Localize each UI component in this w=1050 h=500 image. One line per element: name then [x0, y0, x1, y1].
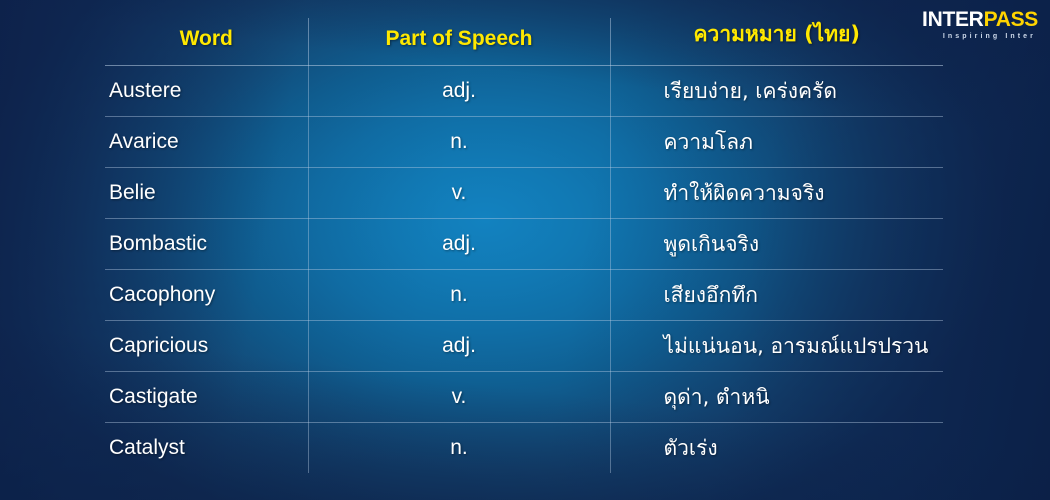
- header-row: Word Part of Speech ความหมาย (ไทย): [105, 18, 943, 66]
- cell-thai-meaning: ดุด่า, ตำหนิ: [610, 372, 943, 423]
- table-row: Belie v. ทำให้ผิดความจริง: [105, 168, 943, 219]
- cell-word: Avarice: [105, 117, 308, 168]
- cell-word: Capricious: [105, 321, 308, 372]
- table-row: Bombastic adj. พูดเกินจริง: [105, 219, 943, 270]
- cell-thai-meaning: ตัวเร่ง: [610, 423, 943, 474]
- cell-thai-meaning: พูดเกินจริง: [610, 219, 943, 270]
- column-header-word: Word: [105, 18, 308, 66]
- cell-part-of-speech: v.: [308, 168, 610, 219]
- cell-part-of-speech: adj.: [308, 321, 610, 372]
- cell-thai-meaning: เรียบง่าย, เคร่งครัด: [610, 66, 943, 117]
- column-header-part-of-speech: Part of Speech: [308, 18, 610, 66]
- slide-canvas: INTERPASS Inspiring Inter Word Part of S…: [0, 0, 1050, 500]
- column-header-thai-meaning: ความหมาย (ไทย): [610, 18, 943, 66]
- cell-word: Cacophony: [105, 270, 308, 321]
- cell-part-of-speech: adj.: [308, 219, 610, 270]
- cell-part-of-speech: n.: [308, 117, 610, 168]
- table-row: Avarice n. ความโลภ: [105, 117, 943, 168]
- cell-part-of-speech: n.: [308, 423, 610, 474]
- cell-part-of-speech: adj.: [308, 66, 610, 117]
- cell-thai-meaning: ทำให้ผิดความจริง: [610, 168, 943, 219]
- cell-word: Catalyst: [105, 423, 308, 474]
- vocabulary-table-container: Word Part of Speech ความหมาย (ไทย) Auste…: [105, 18, 943, 473]
- cell-thai-meaning: ไม่แน่นอน, อารมณ์แปรปรวน: [610, 321, 943, 372]
- table-row: Cacophony n. เสียงอึกทึก: [105, 270, 943, 321]
- cell-word: Belie: [105, 168, 308, 219]
- table-row: Castigate v. ดุด่า, ตำหนิ: [105, 372, 943, 423]
- cell-thai-meaning: ความโลภ: [610, 117, 943, 168]
- table-header: Word Part of Speech ความหมาย (ไทย): [105, 18, 943, 66]
- cell-word: Austere: [105, 66, 308, 117]
- vocabulary-table: Word Part of Speech ความหมาย (ไทย) Auste…: [105, 18, 943, 473]
- table-row: Capricious adj. ไม่แน่นอน, อารมณ์แปรปรวน: [105, 321, 943, 372]
- table-row: Catalyst n. ตัวเร่ง: [105, 423, 943, 474]
- table-body: Austere adj. เรียบง่าย, เคร่งครัด Avaric…: [105, 66, 943, 474]
- logo-word-pass: PASS: [984, 8, 1038, 31]
- table-row: Austere adj. เรียบง่าย, เคร่งครัด: [105, 66, 943, 117]
- cell-thai-meaning: เสียงอึกทึก: [610, 270, 943, 321]
- cell-word: Bombastic: [105, 219, 308, 270]
- cell-word: Castigate: [105, 372, 308, 423]
- cell-part-of-speech: n.: [308, 270, 610, 321]
- cell-part-of-speech: v.: [308, 372, 610, 423]
